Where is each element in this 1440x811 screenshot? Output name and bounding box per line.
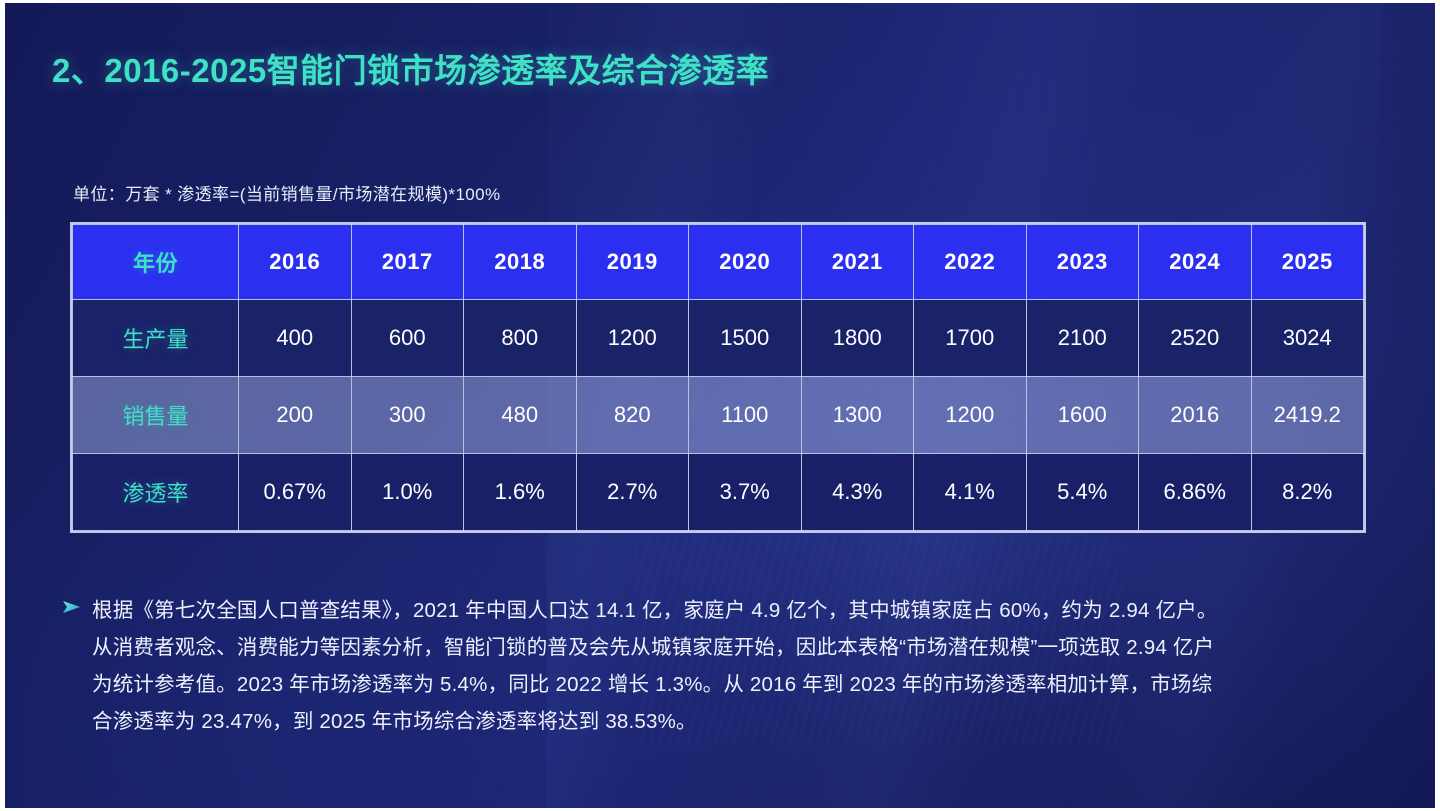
footnote-block: 根据《第七次全国人口普查结果》，2021 年中国人口达 14.1 亿，家庭户 4… <box>62 592 1382 740</box>
table-header-2025: 2025 <box>1251 225 1364 300</box>
row-label-production: 生产量 <box>73 300 239 377</box>
cell-production-2018: 800 <box>464 300 577 377</box>
footnote-line-1: 根据《第七次全国人口普查结果》，2021 年中国人口达 14.1 亿，家庭户 4… <box>92 592 1382 629</box>
cell-sales-2018: 480 <box>464 377 577 454</box>
row-label-penetration: 渗透率 <box>73 454 239 531</box>
slide-border-top <box>0 0 1440 3</box>
cell-production-2024: 2520 <box>1139 300 1252 377</box>
footnote-line-3: 为统计参考值。2023 年市场渗透率为 5.4%，同比 2022 增长 1.3%… <box>92 666 1382 703</box>
cell-sales-2022: 1200 <box>914 377 1027 454</box>
slide-border-left <box>0 0 5 811</box>
table-header-row: 年份 2016 2017 2018 2019 2020 2021 2022 20… <box>73 225 1364 300</box>
table-header-2024: 2024 <box>1139 225 1252 300</box>
cell-sales-2021: 1300 <box>801 377 914 454</box>
cell-penetration-2021: 4.3% <box>801 454 914 531</box>
cell-penetration-2025: 8.2% <box>1251 454 1364 531</box>
table-header-2023: 2023 <box>1026 225 1139 300</box>
table-header-2018: 2018 <box>464 225 577 300</box>
cell-sales-2019: 820 <box>576 377 689 454</box>
cell-penetration-2019: 2.7% <box>576 454 689 531</box>
table-header-2021: 2021 <box>801 225 914 300</box>
table-header-2016: 2016 <box>239 225 352 300</box>
cell-penetration-2018: 1.6% <box>464 454 577 531</box>
table-header-2022: 2022 <box>914 225 1027 300</box>
cell-penetration-2023: 5.4% <box>1026 454 1139 531</box>
cell-penetration-2020: 3.7% <box>689 454 802 531</box>
page-title: 2、2016-2025智能门锁市场渗透率及综合渗透率 <box>52 44 769 92</box>
cell-production-2017: 600 <box>351 300 464 377</box>
table-header-year: 年份 <box>73 225 239 300</box>
cell-penetration-2022: 4.1% <box>914 454 1027 531</box>
cell-sales-2025: 2419.2 <box>1251 377 1364 454</box>
row-label-sales: 销售量 <box>73 377 239 454</box>
cell-sales-2023: 1600 <box>1026 377 1139 454</box>
cell-penetration-2016: 0.67% <box>239 454 352 531</box>
footnote-line-4: 合渗透率为 23.47%，到 2025 年市场综合渗透率将达到 38.53%。 <box>92 703 1382 740</box>
cell-production-2020: 1500 <box>689 300 802 377</box>
table-row-production: 生产量 400 600 800 1200 1500 1800 1700 2100… <box>73 300 1364 377</box>
cell-sales-2024: 2016 <box>1139 377 1252 454</box>
cell-sales-2020: 1100 <box>689 377 802 454</box>
cell-sales-2016: 200 <box>239 377 352 454</box>
cell-production-2016: 400 <box>239 300 352 377</box>
table-row-penetration: 渗透率 0.67% 1.0% 1.6% 2.7% 3.7% 4.3% 4.1% … <box>73 454 1364 531</box>
cell-production-2022: 1700 <box>914 300 1027 377</box>
footnote-line-2: 从消费者观念、消费能力等因素分析，智能门锁的普及会先从城镇家庭开始，因此本表格“… <box>92 629 1382 666</box>
table-header-2019: 2019 <box>576 225 689 300</box>
table-unit-note: 单位：万套 * 渗透率=(当前销售量/市场潜在规模)*100% <box>73 180 501 205</box>
cell-production-2021: 1800 <box>801 300 914 377</box>
arrow-bullet-icon <box>62 600 84 618</box>
footnote-text: 根据《第七次全国人口普查结果》，2021 年中国人口达 14.1 亿，家庭户 4… <box>92 592 1382 740</box>
cell-sales-2017: 300 <box>351 377 464 454</box>
penetration-rate-table: 年份 2016 2017 2018 2019 2020 2021 2022 20… <box>70 222 1366 533</box>
cell-penetration-2024: 6.86% <box>1139 454 1252 531</box>
cell-production-2025: 3024 <box>1251 300 1364 377</box>
cell-penetration-2017: 1.0% <box>351 454 464 531</box>
table-header-2020: 2020 <box>689 225 802 300</box>
cell-production-2019: 1200 <box>576 300 689 377</box>
table-header-2017: 2017 <box>351 225 464 300</box>
slide-canvas: 2、2016-2025智能门锁市场渗透率及综合渗透率 单位：万套 * 渗透率=(… <box>0 0 1440 811</box>
cell-production-2023: 2100 <box>1026 300 1139 377</box>
table-row-sales: 销售量 200 300 480 820 1100 1300 1200 1600 … <box>73 377 1364 454</box>
slide-border-right <box>1435 0 1440 811</box>
